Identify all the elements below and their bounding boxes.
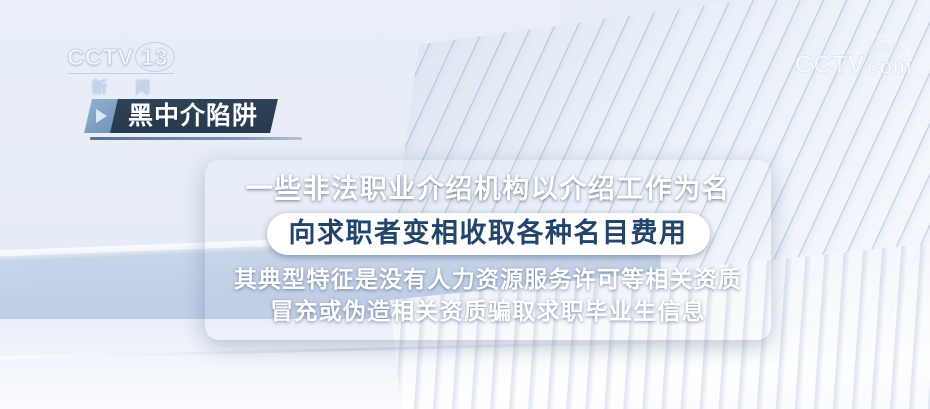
info-line-1: 一些非法职业介绍机构以介绍工作为名 [246, 172, 731, 206]
topic-tag-label: 黑中介陷阱 [128, 99, 258, 133]
tag-underline [90, 137, 302, 140]
cctv13-channel-logo: CCTV13 新 闻 [56, 42, 186, 96]
play-triangle-icon [96, 109, 107, 123]
cctv13-logo-rule [68, 73, 174, 74]
cctv13-logo-mark: CCTV13 [56, 42, 186, 72]
cctv-com-row: CCTV 央视网 com [795, 44, 912, 78]
cctv-com-right-group: 央视网 com [867, 44, 912, 78]
info-panel: 一些非法职业介绍机构以介绍工作为名 向求职者变相收取各种名目费用 其典型特征是没… [205, 160, 771, 340]
cctv13-logo-subtitle: 新 闻 [56, 76, 186, 97]
topic-tag-bar: 黑中介陷阱 [88, 99, 274, 133]
highlight-text: 向求职者变相收取各种名目费用 [289, 216, 688, 250]
cctv13-logo-number: 13 [135, 42, 175, 72]
highlight-pill: 向求职者变相收取各种名目费用 [267, 213, 710, 255]
broadcast-screenshot: CCTV13 新 闻 CCTV 央视网 com 黑中介陷阱 一些非法职业介绍机构… [0, 0, 930, 409]
cctv-com-watermark: CCTV 央视网 com [795, 44, 912, 78]
info-line-3: 其典型特征是没有人力资源服务许可等相关资质 [234, 264, 742, 295]
info-panel-lines: 一些非法职业介绍机构以介绍工作为名 向求职者变相收取各种名目费用 其典型特征是没… [205, 160, 771, 340]
tag-body: 黑中介陷阱 [110, 99, 278, 133]
info-line-4: 冒充或伪造相关资质骗取求职毕业生信息 [270, 296, 706, 327]
cctv13-logo-text: CCTV [67, 44, 134, 70]
